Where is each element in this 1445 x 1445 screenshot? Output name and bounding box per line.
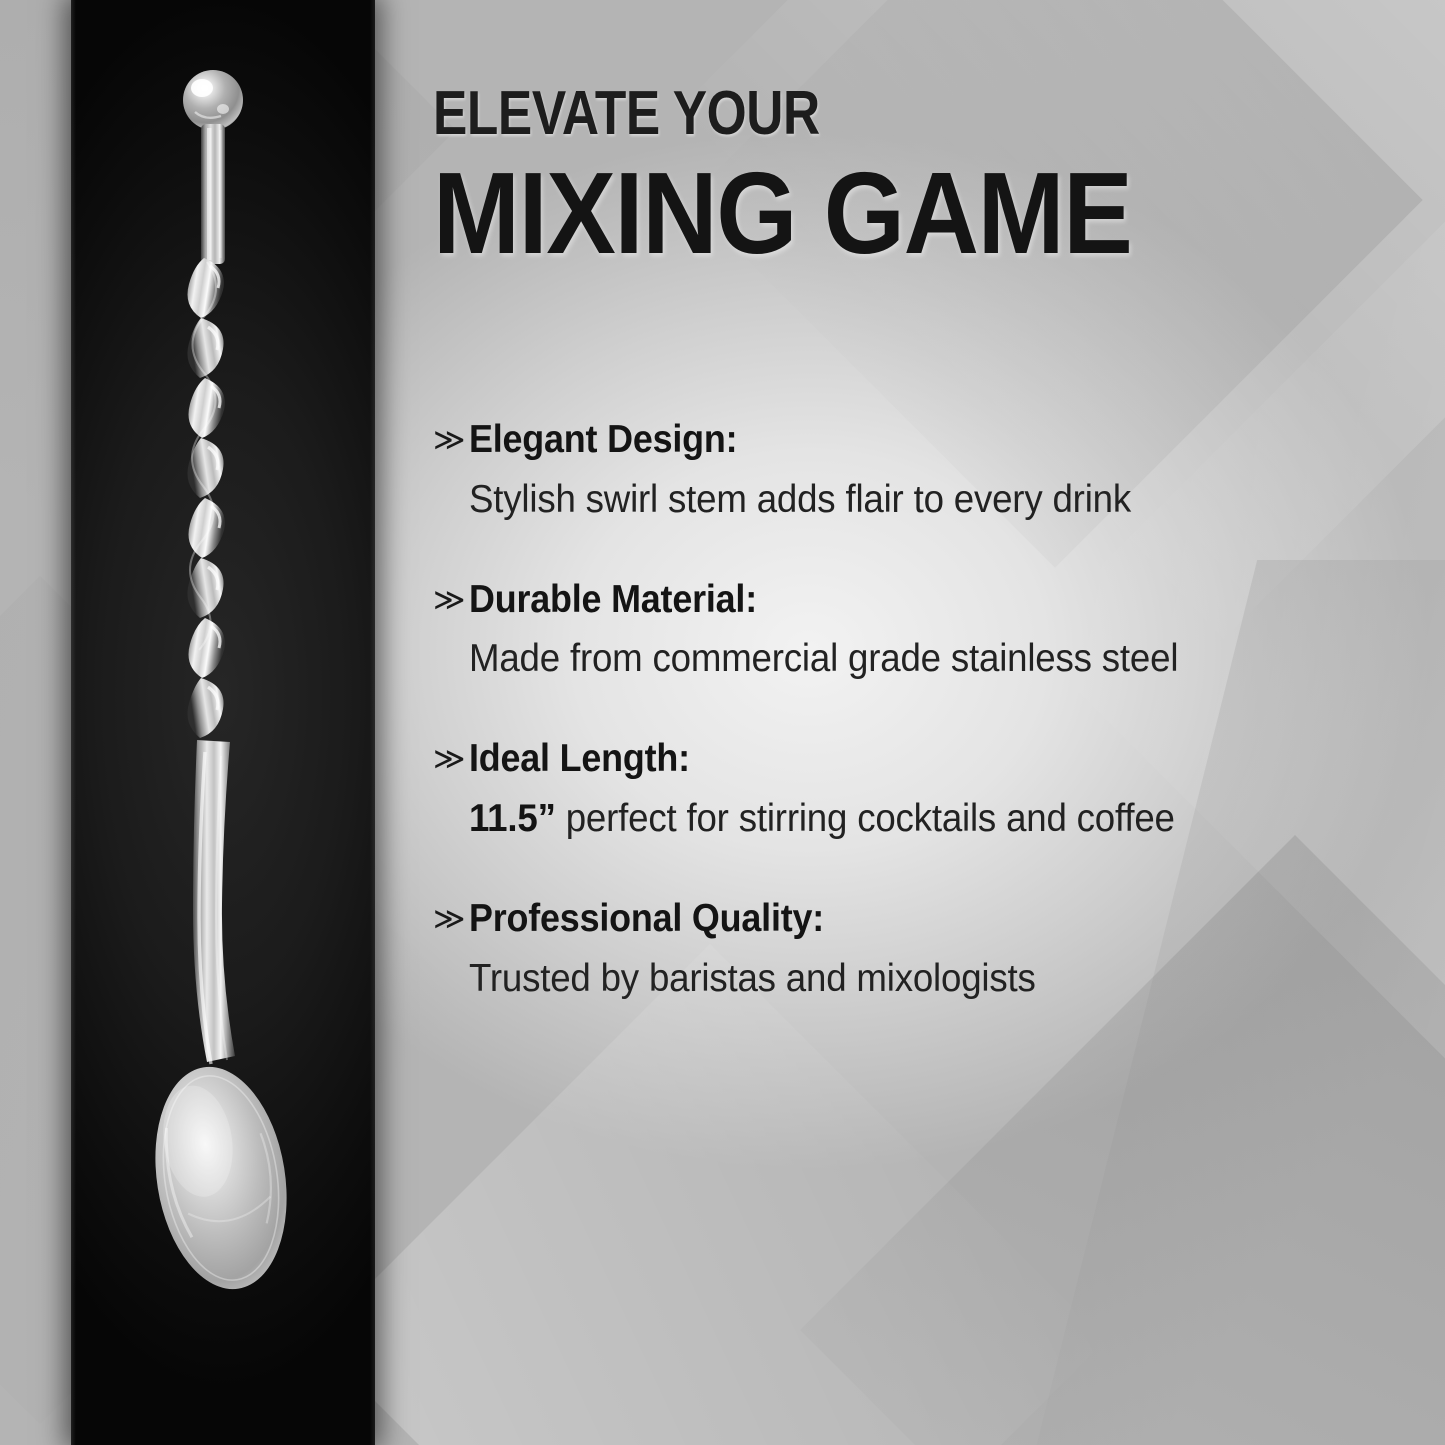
- chevron-bullet-icon: ≫: [433, 584, 469, 615]
- chevron-bullet-icon: ≫: [433, 743, 469, 774]
- feature-description: 11.5” perfect for stirring cocktails and…: [469, 796, 1385, 843]
- length-measurement: 11.5”: [469, 797, 556, 840]
- feature-heading: ≫ Ideal Length:: [433, 737, 1443, 782]
- feature-heading: ≫ Durable Material:: [433, 578, 1443, 623]
- feature-description: Made from commercial grade stainless ste…: [469, 636, 1385, 683]
- spoon-lower-shaft: [193, 740, 235, 1064]
- feature-heading: ≫ Elegant Design:: [433, 418, 1443, 463]
- headline-line-1: ELEVATE YOUR: [433, 84, 1263, 145]
- spoon-ball-finial: [183, 70, 243, 130]
- feature-item: ≫ Elegant Design: Stylish swirl stem add…: [433, 418, 1443, 524]
- feature-title: Professional Quality:: [469, 897, 824, 942]
- feature-title: Durable Material:: [469, 578, 757, 623]
- spoon-upper-shaft: [201, 124, 225, 264]
- headline-line-2: MIXING GAME: [433, 155, 1333, 271]
- feature-description: Stylish swirl stem adds flair to every d…: [469, 477, 1385, 524]
- product-image-panel: [71, 0, 375, 1445]
- feature-item: ≫ Durable Material: Made from commercial…: [433, 578, 1443, 684]
- feature-list: ≫ Elegant Design: Stylish swirl stem add…: [433, 418, 1443, 1003]
- feature-item: ≫ Professional Quality: Trusted by baris…: [433, 897, 1443, 1003]
- content-column: ELEVATE YOUR MIXING GAME ≫ Elegant Desig…: [433, 0, 1445, 1445]
- bar-spoon-product-image: [71, 0, 375, 1445]
- feature-title: Ideal Length:: [469, 737, 690, 782]
- spoon-swirl-stem: [187, 258, 224, 738]
- chevron-bullet-icon: ≫: [433, 903, 469, 934]
- infographic-canvas: ELEVATE YOUR MIXING GAME ≫ Elegant Desig…: [0, 0, 1445, 1445]
- feature-description: Trusted by baristas and mixologists: [469, 956, 1385, 1003]
- feature-title: Elegant Design:: [469, 418, 737, 463]
- chevron-bullet-icon: ≫: [433, 424, 469, 455]
- headline-block: ELEVATE YOUR MIXING GAME: [433, 84, 1433, 271]
- feature-heading: ≫ Professional Quality:: [433, 897, 1443, 942]
- feature-item: ≫ Ideal Length: 11.5” perfect for stirri…: [433, 737, 1443, 843]
- spoon-bowl: [140, 1057, 301, 1298]
- feature-description-text: perfect for stirring cocktails and coffe…: [556, 797, 1175, 840]
